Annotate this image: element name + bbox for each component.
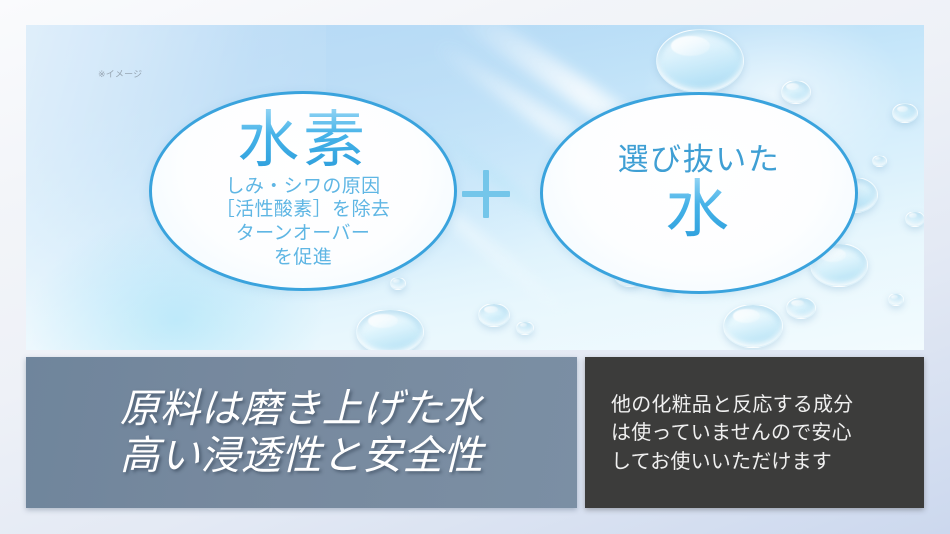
water-oval: 選び抜いた 水: [540, 92, 858, 294]
hydrogen-sub-line-2: ［活性酸素］を除去: [216, 198, 390, 222]
slide-canvas: ※イメージ 水素 しみ・シワの原因 ［活性酸素］を除去 ターンオーバー を促進 …: [0, 0, 950, 534]
water-droplet: [516, 321, 534, 335]
water-droplet: [390, 277, 406, 290]
hydrogen-sub-line-3: ターンオーバー: [216, 222, 390, 246]
headline-panel: 原料は磨き上げた水 高い浸透性と安全性: [26, 357, 577, 508]
note-line-3: してお使いいただけます: [611, 447, 832, 475]
water-droplet: [356, 309, 424, 350]
hydrogen-sub-line-4: を促進: [216, 246, 390, 270]
water-droplet: [478, 303, 510, 327]
headline-line-2: 高い浸透性と安全性: [120, 433, 484, 479]
water-droplet: [723, 304, 783, 348]
water-droplet: [656, 29, 744, 93]
water-droplet: [872, 155, 887, 167]
note-panel: 他の化粧品と反応する成分 は使っていませんので安心 してお使いいただけます: [585, 357, 924, 508]
headline-line-1: 原料は磨き上げた水: [120, 386, 484, 432]
plus-icon: [462, 170, 510, 218]
water-droplet: [888, 293, 904, 306]
hydrogen-oval: 水素 しみ・シワの原因 ［活性酸素］を除去 ターンオーバー を促進: [149, 91, 457, 291]
water-droplet: [905, 211, 924, 227]
hydrogen-title: 水素: [237, 109, 368, 171]
water-droplet: [786, 297, 816, 319]
hydrogen-subtext: しみ・シワの原因 ［活性酸素］を除去 ターンオーバー を促進: [216, 175, 390, 269]
note-line-1: 他の化粧品と反応する成分: [611, 390, 853, 418]
water-eyebrow: 選び抜いた: [618, 145, 781, 176]
water-droplet: [781, 80, 811, 104]
hydrogen-sub-line-1: しみ・シワの原因: [216, 175, 390, 199]
note-line-2: は使っていませんので安心: [611, 418, 852, 446]
water-title: 水: [665, 178, 733, 242]
image-disclaimer-caption: ※イメージ: [98, 67, 142, 80]
water-droplet: [892, 103, 918, 123]
